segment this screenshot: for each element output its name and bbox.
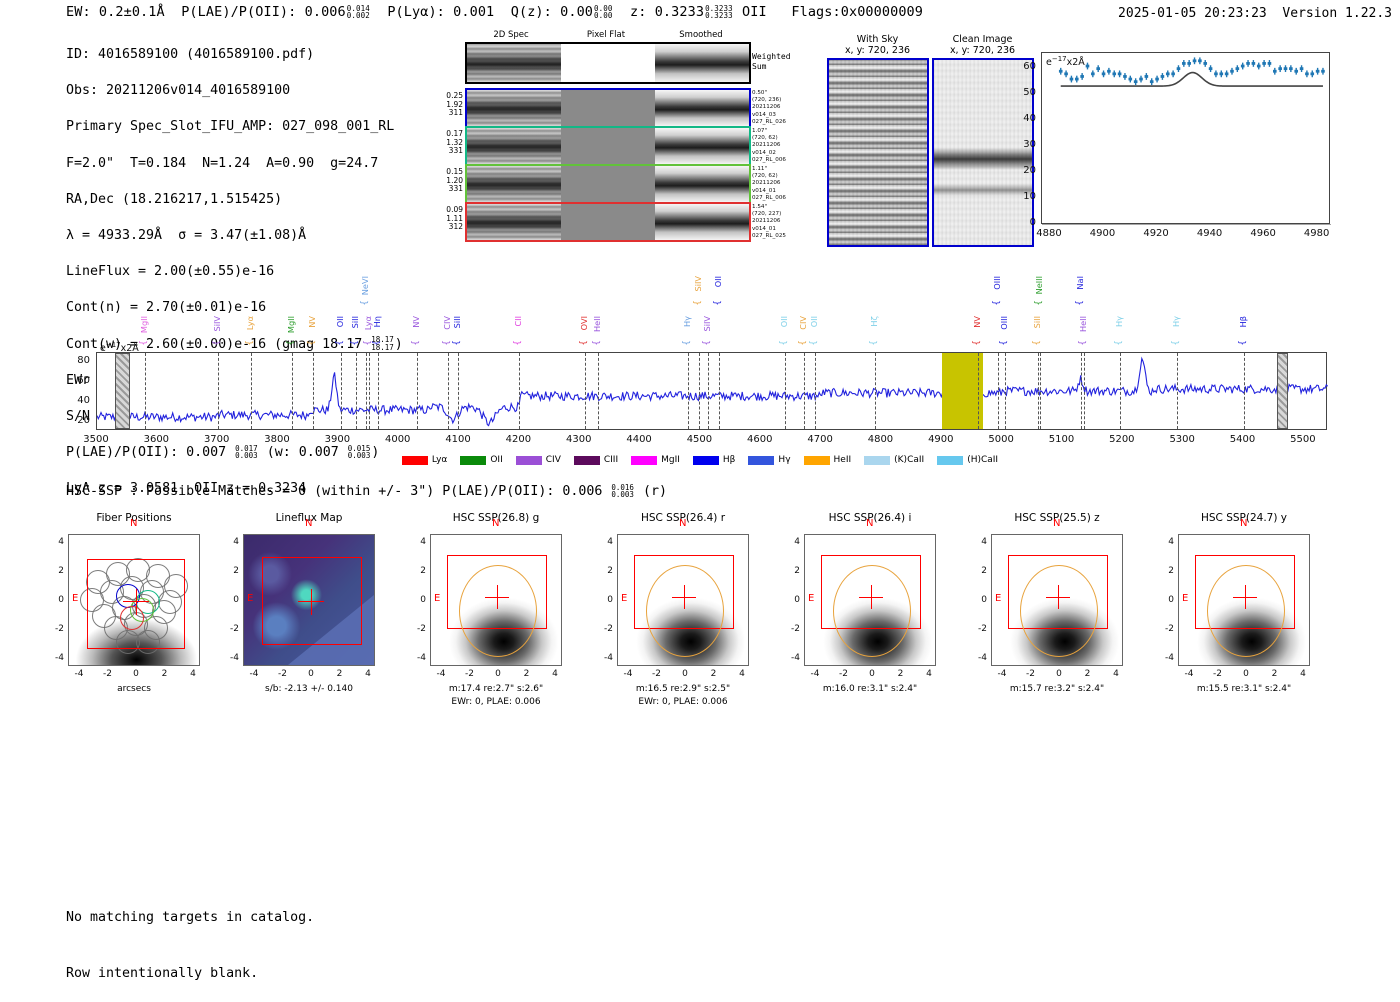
cutout-xtick: 0 bbox=[128, 669, 144, 679]
spectrum-line-marker bbox=[785, 353, 786, 429]
full-spectrum-xtick: 4800 bbox=[861, 434, 899, 445]
source-ellipse bbox=[459, 565, 537, 657]
zoom-plot-xtick: 4900 bbox=[1086, 228, 1120, 239]
zoom-plot-xtick: 4880 bbox=[1032, 228, 1066, 239]
cutout-ytick: 4 bbox=[597, 537, 613, 547]
legend-item-ciii: CIII bbox=[574, 455, 618, 465]
full-spectrum-xtick: 5200 bbox=[1103, 434, 1141, 445]
spectrum-line-label-hζ: Hζ bbox=[869, 316, 879, 327]
clean-image-coords: x, y: 720, 236 bbox=[930, 45, 1035, 56]
cutout-ytick: -2 bbox=[971, 624, 987, 634]
north-marker: N bbox=[1240, 518, 1247, 529]
cutout-ytick: 2 bbox=[1158, 566, 1174, 576]
spectrum-line-marker bbox=[313, 353, 314, 429]
cutout-xtick: 0 bbox=[1238, 669, 1254, 679]
cutout-xtick: 4 bbox=[185, 669, 201, 679]
spectrum-line-marker bbox=[369, 353, 370, 429]
legend-item-mgii: MgII bbox=[631, 455, 680, 465]
spectrum-line-marker bbox=[1005, 353, 1006, 429]
spectrum-line-marker bbox=[998, 353, 999, 429]
north-marker: N bbox=[679, 518, 686, 529]
weighted-sum-label: Weighted Sum bbox=[752, 52, 791, 71]
spectrum-line-marker bbox=[341, 353, 342, 429]
cutout-ytick: 0 bbox=[597, 595, 613, 605]
cutout-xtick: 0 bbox=[490, 669, 506, 679]
spectrum-line-brace: { bbox=[513, 340, 523, 346]
header-plae-range: 0.0140.002 bbox=[347, 5, 370, 19]
full-spectrum-xtick: 4100 bbox=[439, 434, 477, 445]
spectrum-line-brace: { bbox=[1034, 300, 1044, 306]
spectrum-line-marker bbox=[145, 353, 146, 429]
spectrum-line-marker bbox=[1177, 353, 1178, 429]
cutout-image-lineflux-map[interactable] bbox=[243, 534, 375, 666]
cutout-xtick: -4 bbox=[1181, 669, 1197, 679]
cutout-ytick: 0 bbox=[48, 595, 64, 605]
cutout-xtick: 2 bbox=[332, 669, 348, 679]
fiber-strip-4-left-labels: 0.09 1.11 312 bbox=[446, 206, 463, 232]
legend-swatch bbox=[516, 456, 542, 465]
spectrum-line-brace: { bbox=[779, 340, 789, 346]
zoom-plot-ytick: 0 bbox=[1008, 217, 1036, 228]
zoom-plot-ytick: 40 bbox=[1008, 113, 1036, 124]
zoom-plot-ytick: 50 bbox=[1008, 87, 1036, 98]
spectrum-line-marker bbox=[1244, 353, 1245, 429]
weighted-sum-strip: Weighted Sum bbox=[465, 42, 751, 84]
spectrum-legend: LyαOIICIVCIIIMgIIHβHγHeII(K)CaII(H)CaII bbox=[0, 455, 1400, 465]
full-spectrum-ytick: 60 bbox=[62, 375, 90, 386]
cutout-xtick: 4 bbox=[1295, 669, 1311, 679]
spectrum-line-marker bbox=[378, 353, 379, 429]
spectrum-line-brace: { bbox=[592, 340, 602, 346]
header-qz-range: 0.000.00 bbox=[594, 5, 612, 19]
spectrum-line-marker bbox=[366, 353, 367, 429]
zoom-plot-ytick: 60 bbox=[1008, 61, 1036, 72]
cutout-ytick: 4 bbox=[784, 537, 800, 547]
cutout-ytick: -2 bbox=[597, 624, 613, 634]
spectrum-line-brace: { bbox=[1238, 340, 1248, 346]
spectrum-line-marker bbox=[519, 353, 520, 429]
spectrum-line-marker bbox=[251, 353, 252, 429]
east-marker: E bbox=[247, 593, 253, 604]
cutout-caption-1: m:15.5 re:3.1" s:2.4" bbox=[1150, 683, 1338, 695]
spectrum-line-label-nv: NV bbox=[307, 316, 317, 328]
cutout-xtick: -2 bbox=[275, 669, 291, 679]
cutout-ytick: 2 bbox=[971, 566, 987, 576]
spectrum-line-brace: { bbox=[1075, 300, 1085, 306]
legend-label: CIV bbox=[546, 455, 561, 465]
cutout-caption-1: m:15.7 re:3.2" s:2.4" bbox=[963, 683, 1151, 695]
spectrum-line-brace: { bbox=[999, 340, 1009, 346]
spectrum-line-label-hη: Hη bbox=[372, 316, 382, 327]
spectrum-line-label-siiv: SiIV bbox=[212, 316, 222, 332]
legend-label: Hβ bbox=[723, 455, 736, 465]
footer-line-1: No matching targets in catalog. bbox=[66, 909, 314, 928]
spectrum-masked-band-1 bbox=[115, 353, 130, 429]
center-crosshair-v bbox=[1245, 585, 1246, 609]
cutout-xtick: 4 bbox=[734, 669, 750, 679]
cutout-image-hsc-ssp-26-8-g[interactable] bbox=[430, 534, 562, 666]
spectrum-line-marker bbox=[1084, 353, 1085, 429]
spectrum-line-label-siii: SiII bbox=[350, 316, 360, 328]
header-qz-label: Q(z): bbox=[511, 4, 552, 20]
cutout-xtick: 0 bbox=[303, 669, 319, 679]
spectrum-line-brace: { bbox=[702, 340, 712, 346]
center-crosshair-v bbox=[136, 589, 137, 615]
info-line-cont-n: Cont(n) = 2.70(±0.01)e-16 bbox=[66, 299, 403, 317]
header-plae-value: 0.006 bbox=[305, 4, 346, 20]
legend-swatch bbox=[804, 456, 830, 465]
footer-line-2: Row intentionally blank. bbox=[66, 965, 314, 984]
full-spectrum-xtick: 3700 bbox=[198, 434, 236, 445]
panel-title-smoothed: Smoothed bbox=[655, 30, 747, 40]
spectrum-line-marker bbox=[1081, 353, 1082, 429]
spectrum-line-brace: { bbox=[798, 340, 808, 346]
full-spectrum-ytick: 80 bbox=[62, 355, 90, 366]
spectrum-line-brace: { bbox=[245, 340, 255, 346]
east-marker: E bbox=[434, 593, 440, 604]
cutout-ytick: 4 bbox=[1158, 537, 1174, 547]
spectrum-masked-band-2 bbox=[1277, 353, 1288, 429]
spectrum-line-label-heii: HeII bbox=[1078, 316, 1088, 332]
header-version-text: Version 1.22.3 bbox=[1282, 6, 1392, 21]
source-ellipse bbox=[1020, 565, 1098, 657]
hsc-header-prefix: HSC-SSP : Possible Matches = 0 (within +… bbox=[66, 484, 610, 499]
spectrum-line-brace: { bbox=[286, 340, 296, 346]
fiber-strip-2: 0.17 1.32 331 1.07" (720, 62) 20211206 v… bbox=[465, 126, 751, 166]
legend-label: Hγ bbox=[778, 455, 790, 465]
fiber-strip-1-left-labels: 0.25 1.92 311 bbox=[446, 92, 463, 118]
full-spectrum-ytick: 40 bbox=[62, 395, 90, 406]
spectrum-line-label-oii: OII bbox=[713, 276, 723, 287]
east-marker: E bbox=[621, 593, 627, 604]
spectrum-line-marker bbox=[688, 353, 689, 429]
spectrum-line-label-mgii: MgII bbox=[139, 316, 149, 333]
header-flags: Flags:0x00000009 bbox=[791, 4, 923, 20]
spectrum-line-marker bbox=[804, 353, 805, 429]
full-spectrum-xtick: 5100 bbox=[1042, 434, 1080, 445]
cutout-image-hsc-ssp-26-4-r[interactable] bbox=[617, 534, 749, 666]
cutout-caption-2: EWr: 0, PLAE: 0.006 bbox=[402, 696, 590, 708]
spectrum-line-label-hβ: Hβ bbox=[1238, 316, 1248, 327]
fiber-strip-1-right-labels: 0.50" (720, 236) 20211206 v014_03 027_RL… bbox=[752, 90, 786, 126]
spectrum-highlight-band bbox=[942, 353, 983, 429]
north-marker: N bbox=[866, 518, 873, 529]
full-spectrum-ytick: 20 bbox=[62, 415, 90, 426]
north-marker: N bbox=[492, 518, 499, 529]
cutout-ytick: 0 bbox=[784, 595, 800, 605]
panel-title-2d-spec: 2D Spec bbox=[465, 30, 557, 40]
cutout-xtick: -4 bbox=[994, 669, 1010, 679]
spectrum-line-brace: { bbox=[442, 340, 452, 346]
spectrum-line-brace: { bbox=[372, 340, 382, 346]
spectrum-line-label-siii: SiII bbox=[452, 316, 462, 328]
legend-label: MgII bbox=[661, 455, 680, 465]
footer-message: No matching targets in catalog. Row inte… bbox=[66, 872, 314, 1002]
spectrum-line-label-neiii: NeIII bbox=[1034, 276, 1044, 294]
cutout-ytick: -2 bbox=[410, 624, 426, 634]
clean-image-title: Clean Image bbox=[930, 34, 1035, 45]
full-spectrum-xtick: 5500 bbox=[1284, 434, 1322, 445]
cutout-ytick: 0 bbox=[1158, 595, 1174, 605]
spectrum-line-brace: { bbox=[350, 340, 360, 346]
cutout-xtick: -2 bbox=[462, 669, 478, 679]
legend-label: Lyα bbox=[432, 455, 447, 465]
fiber-strip-3: 0.15 1.20 331 1.11" (720, 62) 20211206 v… bbox=[465, 164, 751, 204]
with-sky-coords: x, y: 720, 236 bbox=[825, 45, 930, 56]
center-crosshair-v bbox=[684, 585, 685, 609]
legend-label: HeII bbox=[834, 455, 852, 465]
cutout-ytick: 4 bbox=[48, 537, 64, 547]
fiber-strip-3-right-labels: 1.11" (720, 62) 20211206 v014_01 027_RL_… bbox=[752, 166, 786, 202]
cutout-xtick: -4 bbox=[246, 669, 262, 679]
legend-item-hγ: Hγ bbox=[748, 455, 790, 465]
info-line-lineflux: LineFlux = 2.00(±0.55)e-16 bbox=[66, 263, 403, 281]
cutout-ytick: -2 bbox=[223, 624, 239, 634]
fiber-strip-2-right-labels: 1.07" (720, 62) 20211206 v014_02 027_RL_… bbox=[752, 128, 786, 164]
fiber-strip-2-left-labels: 0.17 1.32 331 bbox=[446, 130, 463, 156]
cutout-ytick: -4 bbox=[1158, 653, 1174, 663]
info-line-radec: RA,Dec (18.216217,1.515425) bbox=[66, 191, 403, 209]
spectrum-line-label-hγ: Hγ bbox=[1171, 316, 1181, 327]
spectrum-line-label-siiv: SiIV bbox=[702, 316, 712, 332]
spectrum-line-brace: { bbox=[452, 340, 462, 346]
legend-item-oii: OII bbox=[460, 455, 502, 465]
header-z-label: z: bbox=[630, 4, 646, 20]
cutout-xtick: -4 bbox=[807, 669, 823, 679]
spectrum-line-brace: { bbox=[713, 300, 723, 306]
legend-swatch bbox=[574, 456, 600, 465]
header-z-species: OII bbox=[742, 4, 767, 20]
info-line-params: F=2.0" T=0.184 N=1.24 A=0.90 g=24.7 bbox=[66, 155, 403, 173]
north-marker: N bbox=[130, 518, 137, 529]
cutout-image-hsc-ssp-26-4-i[interactable] bbox=[804, 534, 936, 666]
full-spectrum-xtick: 3800 bbox=[258, 434, 296, 445]
spectrum-line-brace: { bbox=[139, 340, 149, 346]
full-spectrum-xtick: 3600 bbox=[137, 434, 175, 445]
cutout-xtick: -4 bbox=[620, 669, 636, 679]
spectrum-line-marker bbox=[875, 353, 876, 429]
spectrum-line-label-nv: NV bbox=[411, 316, 421, 328]
info-cont-w-suffix: ) bbox=[395, 337, 403, 352]
source-ellipse bbox=[1207, 565, 1285, 657]
legend-swatch bbox=[460, 456, 486, 465]
legend-item-hβ: Hβ bbox=[693, 455, 736, 465]
fiber-strip-4: 0.09 1.11 312 1.54" (720, 227) 20211206 … bbox=[465, 202, 751, 242]
spectrum-line-marker bbox=[292, 353, 293, 429]
header-z-range: 0.32330.3233 bbox=[705, 5, 733, 19]
cutout-xtick: 4 bbox=[1108, 669, 1124, 679]
cutout-xtick: 2 bbox=[706, 669, 722, 679]
cutout-ytick: -4 bbox=[410, 653, 426, 663]
lineflux-field-rect bbox=[262, 557, 362, 645]
panel-title-pixel-flat: Pixel Flat bbox=[560, 30, 652, 40]
hsc-header-range: 0.0160.003 bbox=[611, 484, 634, 498]
cutout-xtick: -2 bbox=[100, 669, 116, 679]
legend-item-hcaii: (H)CaII bbox=[937, 455, 998, 465]
clean-image-panel: Clean Image x, y: 720, 236 bbox=[930, 34, 1035, 56]
header-ew: EW: 0.2±0.1Å bbox=[66, 4, 165, 20]
info-line-primary-slot: Primary Spec_Slot_IFU_AMP: 027_098_001_R… bbox=[66, 118, 403, 136]
header-qz-value: 0.00 bbox=[560, 4, 593, 20]
cutout-caption-1: s/b: -2.13 +/- 0.140 bbox=[215, 683, 403, 695]
center-crosshair-v bbox=[497, 585, 498, 609]
full-spectrum-xtick: 4600 bbox=[741, 434, 779, 445]
cutout-image-hsc-ssp-24-7-y[interactable] bbox=[1178, 534, 1310, 666]
spectrum-line-label-civ: CIV bbox=[798, 316, 808, 330]
legend-swatch bbox=[402, 456, 428, 465]
full-spectrum-xtick: 3900 bbox=[318, 434, 356, 445]
spectrum-line-label-mgii: MgII bbox=[286, 316, 296, 333]
spectrum-line-marker bbox=[356, 353, 357, 429]
full-spectrum-xtick: 5000 bbox=[982, 434, 1020, 445]
full-spectrum-xtick: 4900 bbox=[922, 434, 960, 445]
spectrum-line-brace: { bbox=[335, 340, 345, 346]
spectrum-line-brace: { bbox=[360, 300, 370, 306]
spectrum-line-brace: { bbox=[1171, 340, 1181, 346]
with-sky-image bbox=[827, 58, 929, 247]
full-spectrum-unit-label: e−17x2Å bbox=[100, 341, 139, 354]
cutout-ytick: -4 bbox=[597, 653, 613, 663]
cutout-image-hsc-ssp-25-5-z[interactable] bbox=[991, 534, 1123, 666]
spectrum-line-brace: { bbox=[992, 300, 1002, 306]
hsc-ssp-header: HSC-SSP : Possible Matches = 0 (within +… bbox=[66, 484, 667, 499]
full-spectrum-xtick: 4500 bbox=[680, 434, 718, 445]
zoom-plot-ytick: 10 bbox=[1008, 191, 1036, 202]
spectrum-line-marker bbox=[815, 353, 816, 429]
cutout-ytick: 2 bbox=[410, 566, 426, 576]
spectrum-line-label-heii: HeII bbox=[592, 316, 602, 332]
north-marker: N bbox=[1053, 518, 1060, 529]
header-plae-label: P(LAE)/P(OII): bbox=[181, 4, 296, 20]
zoom-plot-ytick: 20 bbox=[1008, 165, 1036, 176]
header-plya: P(Lyα): 0.001 bbox=[387, 4, 494, 20]
full-spectrum-xtick: 4400 bbox=[620, 434, 658, 445]
source-ellipse bbox=[646, 565, 724, 657]
spectrum-line-label-oiii: OIII bbox=[999, 316, 1009, 330]
legend-label: OII bbox=[490, 455, 502, 465]
spectrum-line-brace: { bbox=[693, 300, 703, 306]
cutout-xtick: 2 bbox=[519, 669, 535, 679]
spectrum-line-brace: { bbox=[212, 340, 222, 346]
spectrum-line-label-nevi: NeVI bbox=[360, 276, 370, 295]
legend-swatch bbox=[631, 456, 657, 465]
zoom-plot-xtick: 4960 bbox=[1246, 228, 1280, 239]
spectrum-line-marker bbox=[1120, 353, 1121, 429]
spectrum-line-marker bbox=[1040, 353, 1041, 429]
cutout-xtick: 2 bbox=[1080, 669, 1096, 679]
header-z-value: 0.3233 bbox=[655, 4, 704, 20]
spectrum-line-marker bbox=[978, 353, 979, 429]
legend-swatch bbox=[693, 456, 719, 465]
spectrum-line-marker bbox=[218, 353, 219, 429]
spectrum-line-brace: { bbox=[972, 340, 982, 346]
east-marker: E bbox=[808, 593, 814, 604]
cutout-caption-1: m:16.5 re:2.9" s:2.5" bbox=[589, 683, 777, 695]
spectrum-line-label-hγ: Hγ bbox=[1114, 316, 1124, 327]
with-sky-panel: With Sky x, y: 720, 236 bbox=[825, 34, 930, 56]
cutout-xtick: -4 bbox=[71, 669, 87, 679]
spectrum-line-label-siiv: SiIV bbox=[693, 276, 703, 292]
spectrum-line-label-hγ: Hγ bbox=[682, 316, 692, 327]
spectrum-line-brace: { bbox=[411, 340, 421, 346]
cutout-caption-2: EWr: 0, PLAE: 0.006 bbox=[589, 696, 777, 708]
cutout-xtick: -2 bbox=[1210, 669, 1226, 679]
legend-item-lyα: Lyα bbox=[402, 455, 447, 465]
cutout-xtick: 4 bbox=[360, 669, 376, 679]
info-line-id: ID: 4016589100 (4016589100.pdf) bbox=[66, 46, 403, 64]
cutout-ytick: 4 bbox=[971, 537, 987, 547]
header-summary-line: EW: 0.2±0.1Å P(LAE)/P(OII): 0.0060.0140.… bbox=[66, 4, 923, 20]
cutout-ytick: -4 bbox=[784, 653, 800, 663]
cutout-xtick: -2 bbox=[1023, 669, 1039, 679]
cutout-xtick: -2 bbox=[836, 669, 852, 679]
zoom-plot-frame: e−17x2Å bbox=[1041, 52, 1330, 224]
cutout-xtick: 2 bbox=[1267, 669, 1283, 679]
cutout-ytick: 2 bbox=[48, 566, 64, 576]
info-line-obs: Obs: 20211206v014_4016589100 bbox=[66, 82, 403, 100]
legend-swatch bbox=[937, 456, 963, 465]
cutout-xtick: 4 bbox=[921, 669, 937, 679]
with-sky-title: With Sky bbox=[825, 34, 930, 45]
spectrum-line-brace: { bbox=[307, 340, 317, 346]
spectrum-line-marker bbox=[719, 353, 720, 429]
east-marker: E bbox=[995, 593, 1001, 604]
full-spectrum-xtick: 4000 bbox=[379, 434, 417, 445]
spectrum-line-brace: { bbox=[682, 340, 692, 346]
full-spectrum-xtick: 5300 bbox=[1163, 434, 1201, 445]
zoom-plot-xtick: 4940 bbox=[1193, 228, 1227, 239]
full-spectrum-xtick: 4700 bbox=[801, 434, 839, 445]
cutout-xtick: 2 bbox=[157, 669, 173, 679]
cutout-caption-1: arcsecs bbox=[40, 683, 228, 695]
spectrum-line-marker bbox=[585, 353, 586, 429]
full-spectrum-frame: e−17x2Å bbox=[96, 352, 1327, 430]
spectrum-line-label-cii: CII bbox=[513, 316, 523, 327]
source-ellipse bbox=[833, 565, 911, 657]
spectrum-line-label-ovi: OVI bbox=[579, 316, 589, 330]
spectrum-line-label-oii: OII bbox=[809, 316, 819, 327]
cutout-image-fiber-positions[interactable] bbox=[68, 534, 200, 666]
east-marker: E bbox=[72, 593, 78, 604]
north-marker: N bbox=[305, 518, 312, 529]
fiber-strip-4-right-labels: 1.54" (720, 227) 20211206 v014_01 027_RL… bbox=[752, 204, 786, 240]
header-timestamp-version: 2025-01-05 20:23:23 Version 1.22.3 bbox=[1118, 6, 1392, 21]
zoom-plot-xtick: 4920 bbox=[1139, 228, 1173, 239]
legend-label: (H)CaII bbox=[967, 455, 998, 465]
cutout-caption-1: m:16.0 re:3.1" s:2.4" bbox=[776, 683, 964, 695]
cutout-ytick: 2 bbox=[597, 566, 613, 576]
spectrum-line-label-lyα: Lyα bbox=[245, 316, 255, 330]
zoom-plot-ytick: 30 bbox=[1008, 139, 1036, 150]
cutout-ytick: 2 bbox=[784, 566, 800, 576]
legend-item-civ: CIV bbox=[516, 455, 561, 465]
legend-swatch bbox=[864, 456, 890, 465]
center-crosshair-v bbox=[871, 585, 872, 609]
east-marker: E bbox=[1182, 593, 1188, 604]
cutout-ytick: -2 bbox=[784, 624, 800, 634]
cutout-ytick: 0 bbox=[971, 595, 987, 605]
legend-label: (K)CaII bbox=[894, 455, 924, 465]
cutout-ytick: 0 bbox=[410, 595, 426, 605]
cutout-ytick: 4 bbox=[410, 537, 426, 547]
cutout-ytick: -2 bbox=[48, 624, 64, 634]
spectrum-line-label-oiii: OIII bbox=[992, 276, 1002, 290]
spectrum-line-brace: { bbox=[579, 340, 589, 346]
spectrum-line-brace: { bbox=[809, 340, 819, 346]
cutout-ytick: 0 bbox=[223, 595, 239, 605]
hsc-header-suffix: (r) bbox=[635, 484, 667, 499]
full-spectrum-xtick: 3500 bbox=[77, 434, 115, 445]
